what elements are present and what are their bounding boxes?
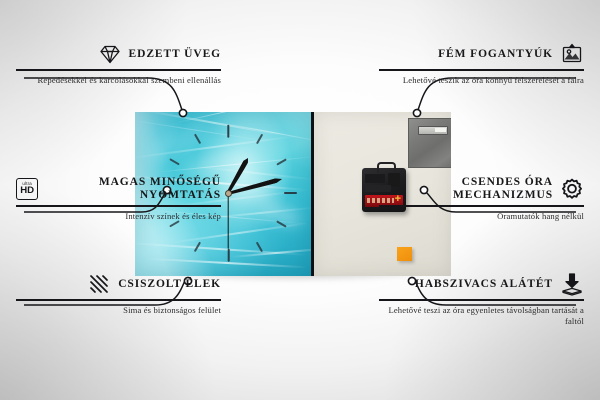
clock-second-hand — [227, 193, 228, 249]
callout-description: Lehetővé teszi az óra egyenletes távolsá… — [379, 305, 584, 327]
hanger-keyhole-slot — [418, 126, 448, 135]
feather-streak — [135, 242, 307, 256]
clock-center-hub — [225, 190, 232, 197]
callout-description: Intenzív színek és éles kép — [16, 211, 221, 222]
callout-high-quality-print[interactable]: ultra HD MAGAS MINŐSÉGŰ NYOMTATÁS Intenz… — [16, 176, 221, 222]
callout-rule — [379, 205, 584, 207]
foam-pad — [397, 247, 412, 261]
callout-rule — [16, 205, 221, 207]
callout-title: CSISZOLT ÉLEK — [118, 278, 221, 291]
callout-foam-pad[interactable]: HABSZIVACS ALÁTÉT Lehetővé teszi az óra … — [379, 272, 584, 327]
callout-rule — [379, 69, 584, 71]
clock-tick — [227, 125, 229, 138]
picture-frame-hanger-icon — [560, 42, 584, 66]
callout-tempered-glass[interactable]: EDZETT ÜVEG Repedésekkel és karcolásokka… — [16, 42, 221, 86]
callout-description: Repedésekkel és karcolásokkal szembeni e… — [16, 75, 221, 86]
callout-description: Lehetővé teszik az óra könnyű felszerelé… — [379, 75, 584, 86]
callout-title: FÉM FOGANTYÚK — [438, 48, 553, 61]
callout-rule — [379, 299, 584, 301]
callout-rule — [16, 69, 221, 71]
callout-title: EDZETT ÜVEG — [129, 48, 221, 61]
callout-rule — [16, 299, 221, 301]
callout-title: CSENDES ÓRA MECHANIZMUS — [379, 176, 553, 202]
mechanism-hanging-loop — [377, 162, 396, 173]
callout-description: Sima és biztonságos felület — [16, 305, 221, 316]
callout-polished-edges[interactable]: CSISZOLT ÉLEK Sima és biztonságos felüle… — [16, 272, 221, 316]
ultra-hd-badge-icon: ultra HD — [16, 178, 38, 200]
callout-silent-mechanism[interactable]: CSENDES ÓRA MECHANIZMUS Óramutatók hang … — [379, 176, 584, 222]
metal-hanger-plate — [408, 118, 451, 168]
callout-title: HABSZIVACS ALÁTÉT — [415, 278, 553, 291]
callout-title: MAGAS MINŐSÉGŰ NYOMTATÁS — [45, 176, 221, 202]
gear-icon — [560, 177, 584, 201]
diagonal-lines-icon — [87, 272, 111, 296]
clock-tick — [169, 158, 179, 165]
badge-big-text: HD — [20, 186, 34, 196]
arrow-down-pad-icon — [560, 272, 584, 296]
diamond-icon — [98, 42, 122, 66]
callout-description: Óramutatók hang nélkül — [379, 211, 584, 222]
clock-tick — [284, 192, 297, 194]
callout-metal-handles[interactable]: FÉM FOGANTYÚK Lehetővé teszik az óra kön… — [379, 42, 584, 86]
clock-tick — [227, 249, 229, 262]
